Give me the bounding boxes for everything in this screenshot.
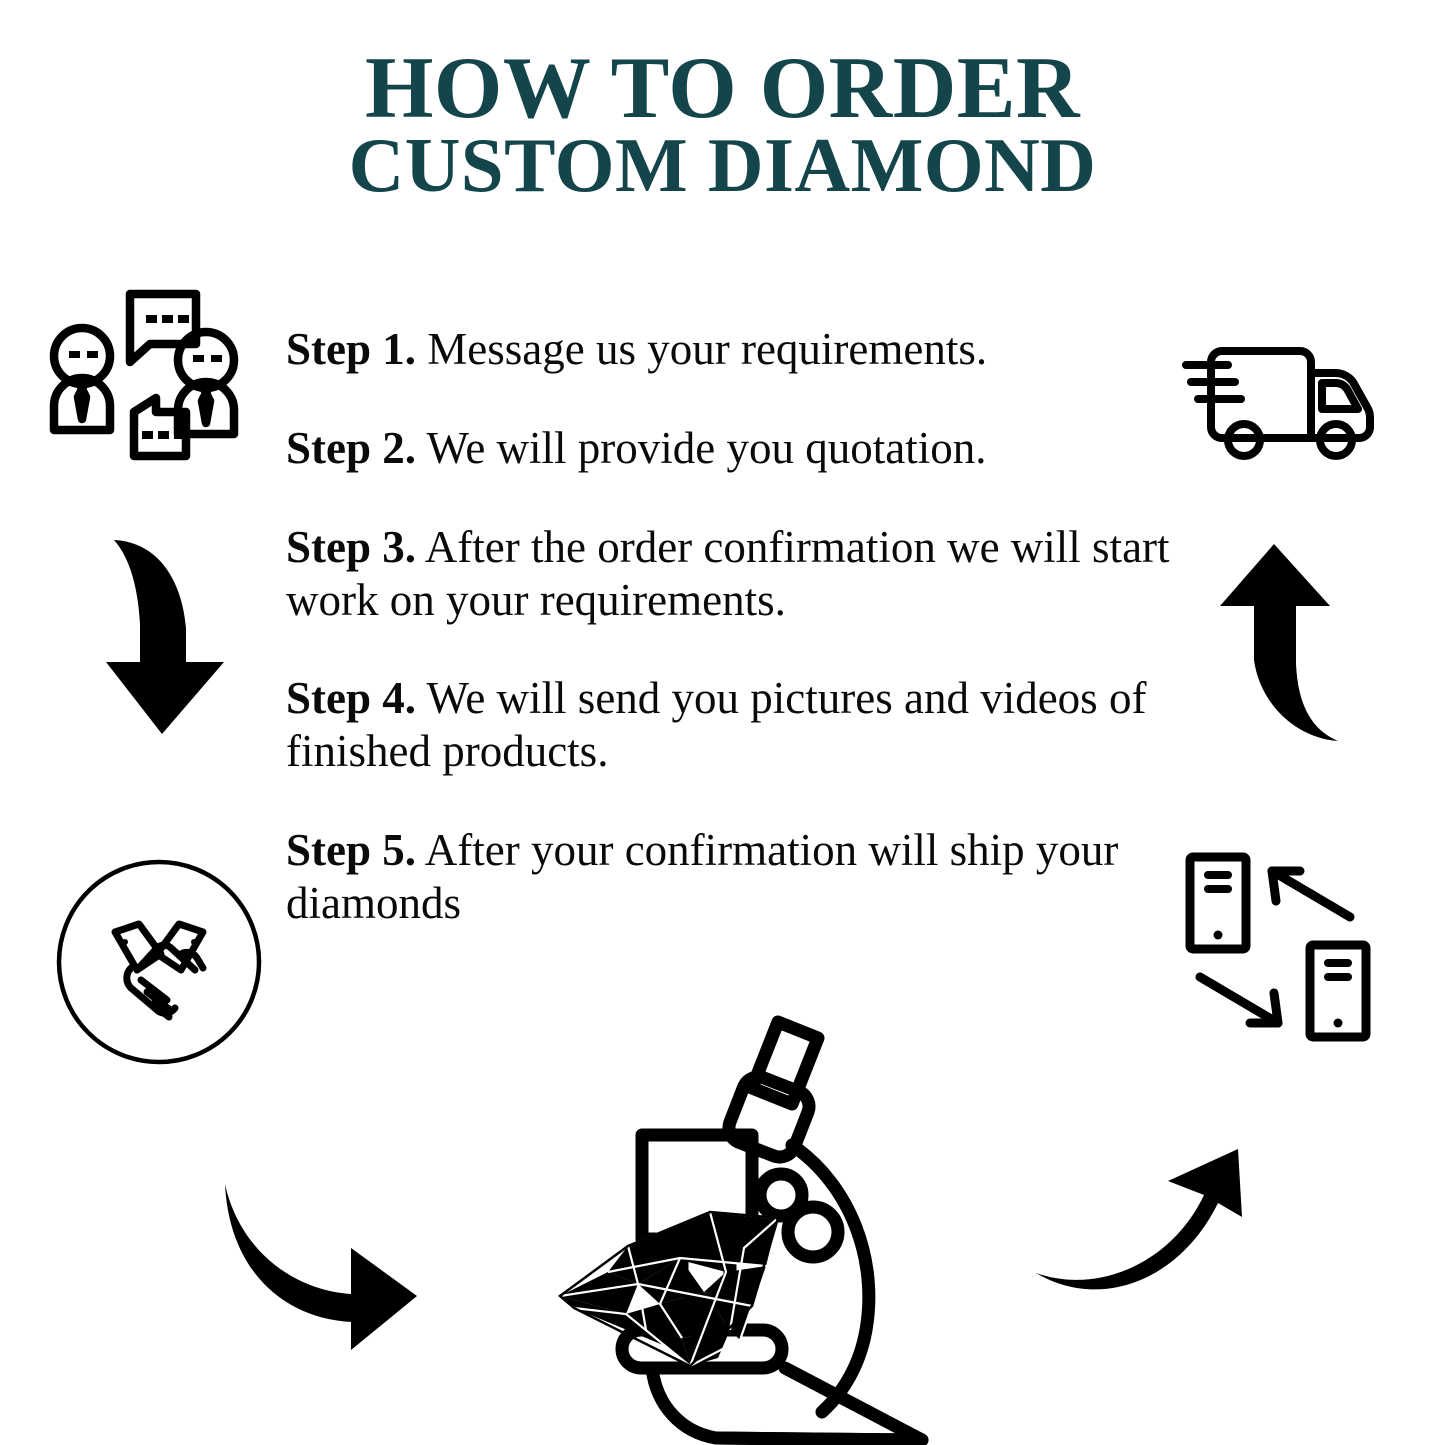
delivery-truck-icon: [1170, 330, 1395, 480]
steps-list: Step 1. Message us your requirements. St…: [286, 278, 1186, 930]
handshake-icon: [55, 858, 263, 1066]
step-1-text: Message us your requirements.: [416, 324, 987, 374]
step-item-3: Step 3. After the order confirmation we …: [286, 521, 1186, 627]
step-2-label: Step 2.: [286, 423, 416, 473]
arrow-curve-right-icon: [205, 1182, 425, 1354]
step-2-text: We will provide you quotation.: [416, 423, 986, 473]
consultation-icon: [38, 278, 250, 478]
step-item-1: Step 1. Message us your requirements.: [286, 323, 1186, 376]
step-3-label: Step 3.: [286, 522, 416, 572]
page-title: HOW TO ORDER CUSTOM DIAMOND: [0, 46, 1445, 204]
arrow-down-icon: [96, 532, 246, 747]
step-item-4: Step 4. We will send you pictures and vi…: [286, 672, 1186, 778]
step-5-label: Step 5.: [286, 825, 416, 875]
title-line-secondary: CUSTOM DIAMOND: [0, 128, 1445, 203]
step-item-2: Step 2. We will provide you quotation.: [286, 422, 1186, 475]
infographic-canvas: HOW TO ORDER CUSTOM DIAMOND Step 1. Mess…: [0, 0, 1445, 1445]
title-line-primary: HOW TO ORDER: [0, 46, 1445, 132]
step-3-text: After the order confirmation we will sta…: [286, 522, 1170, 625]
arrow-curve-up-right-icon: [1028, 1145, 1248, 1327]
microscope-diamond-icon: [530, 1000, 940, 1445]
step-item-5: Step 5. After your confirmation will shi…: [286, 824, 1186, 930]
arrow-up-icon: [1212, 536, 1362, 751]
step-1-label: Step 1.: [286, 324, 416, 374]
step-4-text: We will send you pictures and videos of …: [286, 673, 1146, 776]
step-4-label: Step 4.: [286, 673, 416, 723]
devices-exchange-icon: [1170, 845, 1400, 1050]
